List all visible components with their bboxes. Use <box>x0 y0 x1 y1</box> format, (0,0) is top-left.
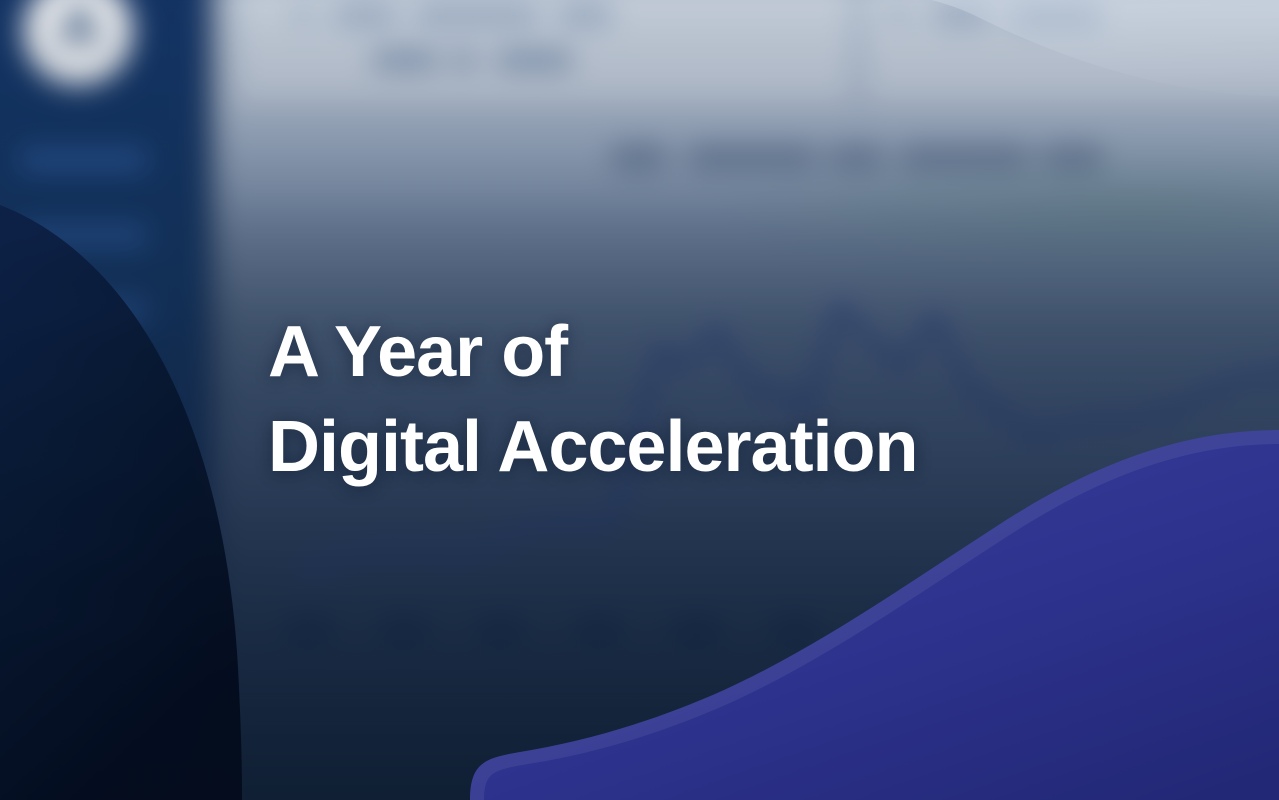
x-axis-tick <box>483 620 518 638</box>
table-cell <box>934 4 989 26</box>
table-row-icon <box>293 6 311 24</box>
x-axis-tick <box>875 620 907 638</box>
table-cell <box>496 48 572 71</box>
table-cell <box>373 48 439 71</box>
table-cell <box>415 4 538 26</box>
x-axis-tick <box>386 620 423 638</box>
page-title: A Year of Digital Acceleration <box>268 305 1168 495</box>
panel-divider <box>855 0 857 93</box>
x-axis-tick <box>677 620 715 638</box>
legend-label <box>804 699 857 710</box>
table-row-icon <box>890 6 908 24</box>
table-cell <box>558 4 611 26</box>
x-axis-tick <box>290 620 326 638</box>
table-bottom-rule <box>239 101 1279 103</box>
table-cell <box>335 4 396 26</box>
sidebar-item-3[interactable] <box>20 299 147 322</box>
x-axis-tick <box>582 620 616 638</box>
sidebar-item-6[interactable] <box>20 531 147 554</box>
sidebar-item-5[interactable] <box>20 453 147 476</box>
logo-monogram: A <box>59 0 98 56</box>
headline-line-1: A Year of <box>268 305 1168 400</box>
sidebar-edge-shadow <box>208 0 225 800</box>
headline-line-2: Digital Acceleration <box>268 400 1168 495</box>
x-axis-tick <box>971 620 1006 638</box>
sidebar-item-4[interactable] <box>20 375 147 398</box>
x-axis-tick <box>1261 620 1279 638</box>
legend-label <box>871 699 937 710</box>
app-sidebar: A <box>0 0 208 800</box>
legend-swatch <box>776 697 790 711</box>
table-cell <box>452 48 475 71</box>
slide-canvas: A <box>0 0 1279 800</box>
x-axis-tick <box>1068 620 1101 638</box>
sidebar-item-7[interactable] <box>20 610 147 633</box>
table-cell <box>1011 4 1100 26</box>
x-axis-tick <box>1166 620 1201 638</box>
app-logo: A <box>23 0 133 86</box>
sidebar-item-2[interactable] <box>20 224 147 247</box>
x-axis-tick <box>778 620 813 638</box>
sidebar-item-1[interactable] <box>20 149 147 172</box>
